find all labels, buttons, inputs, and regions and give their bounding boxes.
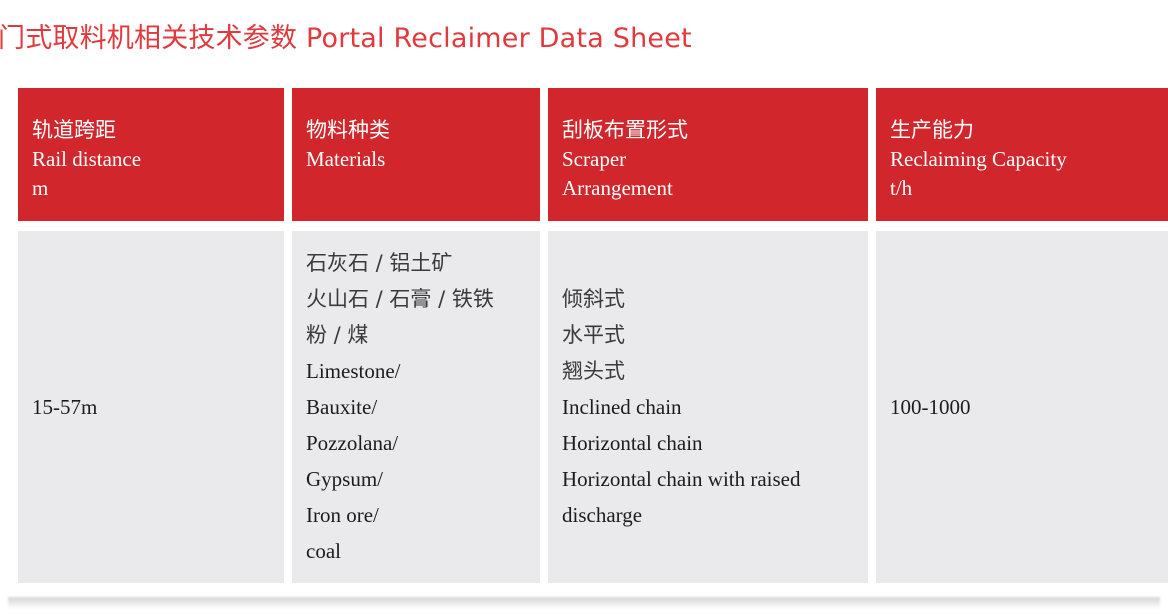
table-body: 15-57m 石灰石 / 铝土矿 火山石 / 石膏 / 铁铁 粉 / 煤 Lim… [18,231,1168,583]
list-item: Horizontal chain [562,425,868,461]
list-item: Horizontal chain with raised [562,461,868,497]
list-item: 火山石 / 石膏 / 铁铁 [306,281,540,317]
materials-en-list: Limestone/ Bauxite/ Pozzolana/ Gypsum/ I… [306,353,540,569]
column-header-rail-distance: 轨道跨距 Rail distance m [18,88,284,221]
column-header-cn: 刮板布置形式 [562,116,868,145]
list-item: Limestone/ [306,353,540,389]
column-header-materials: 物料种类 Materials [292,88,540,221]
materials-cn-list: 石灰石 / 铝土矿 火山石 / 石膏 / 铁铁 粉 / 煤 [306,245,540,353]
column-header-en-line2: Arrangement [562,174,868,203]
column-header-reclaiming-capacity: 生产能力 Reclaiming Capacity t/h [876,88,1168,221]
page-title: 门式取料机相关技术参数 Portal Reclaimer Data Sheet [0,22,1168,56]
list-item: 石灰石 / 铝土矿 [306,245,540,281]
column-header-en: Materials [306,145,540,174]
list-item: coal [306,533,540,569]
column-header-en: Reclaiming Capacity [890,145,1168,174]
list-item: Iron ore/ [306,497,540,533]
cell-materials: 石灰石 / 铝土矿 火山石 / 石膏 / 铁铁 粉 / 煤 Limestone/… [292,231,540,583]
list-item: Bauxite/ [306,389,540,425]
table-header-row: 轨道跨距 Rail distance m 物料种类 Materials 刮板布置… [18,88,1168,221]
table-drop-shadow [8,597,1160,609]
table-row: 15-57m 石灰石 / 铝土矿 火山石 / 石膏 / 铁铁 粉 / 煤 Lim… [18,231,1168,583]
column-header-scraper-arrangement: 刮板布置形式 Scraper Arrangement [548,88,868,221]
list-item: Pozzolana/ [306,425,540,461]
column-header-en: Scraper [562,145,868,174]
cell-value: 100-1000 [890,392,1168,422]
cell-rail-distance: 15-57m [18,231,284,583]
list-item: 粉 / 煤 [306,317,540,353]
list-item: 倾斜式 [562,281,868,317]
list-item: Inclined chain [562,389,868,425]
cell-scraper-arrangement: 倾斜式 水平式 翘头式 Inclined chain Horizontal ch… [548,231,868,583]
data-sheet-table: 轨道跨距 Rail distance m 物料种类 Materials 刮板布置… [10,78,1168,593]
column-header-unit: m [32,174,284,203]
column-header-cn: 物料种类 [306,116,540,145]
cell-value: 15-57m [32,392,284,422]
table-header: 轨道跨距 Rail distance m 物料种类 Materials 刮板布置… [18,88,1168,221]
scraper-cn-list: 倾斜式 水平式 翘头式 [562,281,868,389]
list-item: Gypsum/ [306,461,540,497]
list-item: 翘头式 [562,353,868,389]
document-page: 门式取料机相关技术参数 Portal Reclaimer Data Sheet … [0,0,1168,614]
column-header-en: Rail distance [32,145,284,174]
cell-reclaiming-capacity: 100-1000 [876,231,1168,583]
data-sheet-table-container: 轨道跨距 Rail distance m 物料种类 Materials 刮板布置… [0,70,1168,598]
list-item: discharge [562,497,868,533]
list-item: 水平式 [562,317,868,353]
column-header-cn: 轨道跨距 [32,116,284,145]
column-header-unit: t/h [890,174,1168,203]
scraper-en-list: Inclined chain Horizontal chain Horizont… [562,389,868,533]
column-header-cn: 生产能力 [890,116,1168,145]
